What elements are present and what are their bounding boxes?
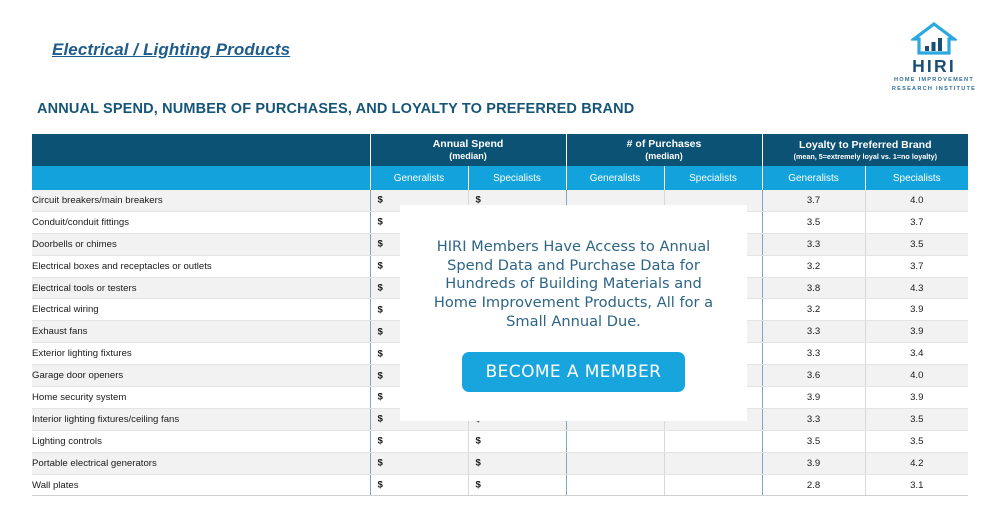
currency-symbol: $	[476, 458, 481, 469]
table-row: Lighting controls$$3.53.5	[32, 430, 968, 452]
cell-purchases-specialists	[664, 430, 762, 452]
currency-symbol: $	[378, 283, 383, 294]
subheader-purchases-specialists: Specialists	[664, 166, 762, 190]
cell-loyalty-specialists: 3.5	[865, 233, 968, 255]
cell-spend-specialists: $	[468, 474, 566, 496]
currency-symbol: $	[378, 304, 383, 315]
table-header-group-row: Annual Spend (median) # of Purchases (me…	[32, 134, 968, 166]
table-row: Wall plates$$2.83.1	[32, 474, 968, 496]
header-group-loyalty-subtitle: (mean, 5=extremely loyal vs. 1=no loyalt…	[763, 152, 969, 161]
currency-symbol: $	[378, 348, 383, 359]
subheader-corner-cell	[32, 166, 370, 190]
cell-loyalty-specialists: 3.7	[865, 211, 968, 233]
cell-loyalty-specialists: 3.4	[865, 343, 968, 365]
currency-symbol: $	[476, 436, 481, 447]
cell-purchases-specialists	[664, 474, 762, 496]
cell-loyalty-specialists: 4.0	[865, 365, 968, 387]
cell-loyalty-generalists: 3.3	[762, 408, 865, 430]
cell-spend-generalists: $	[370, 474, 468, 496]
header-group-loyalty: Loyalty to Preferred Brand (mean, 5=extr…	[762, 134, 968, 166]
cell-spend-specialists: $	[468, 452, 566, 474]
house-with-bar-chart-icon	[882, 22, 986, 56]
cell-spend-generalists: $	[370, 430, 468, 452]
cell-loyalty-generalists: 3.9	[762, 452, 865, 474]
currency-symbol: $	[378, 458, 383, 469]
row-label: Interior lighting fixtures/ceiling fans	[32, 408, 370, 430]
cell-loyalty-generalists: 3.5	[762, 430, 865, 452]
currency-symbol: $	[476, 480, 481, 491]
cell-loyalty-specialists: 4.3	[865, 277, 968, 299]
hiri-logo: HIRI HOME IMPROVEMENT RESEARCH INSTITUTE	[882, 22, 986, 94]
membership-overlay: HIRI Members Have Access to Annual Spend…	[400, 205, 747, 421]
logo-tagline-line2: RESEARCH INSTITUTE	[882, 85, 986, 94]
cell-loyalty-generalists: 3.3	[762, 233, 865, 255]
currency-symbol: $	[378, 370, 383, 381]
cell-loyalty-generalists: 3.2	[762, 255, 865, 277]
membership-overlay-message: HIRI Members Have Access to Annual Spend…	[424, 238, 724, 331]
subheader-spend-generalists: Generalists	[370, 166, 468, 190]
row-label: Exterior lighting fixtures	[32, 343, 370, 365]
row-label: Wall plates	[32, 474, 370, 496]
subheader-loyalty-generalists: Generalists	[762, 166, 865, 190]
header-group-annual-spend-subtitle: (median)	[371, 151, 566, 162]
cell-purchases-generalists	[566, 452, 664, 474]
cell-loyalty-specialists: 3.5	[865, 430, 968, 452]
cell-spend-generalists: $	[370, 452, 468, 474]
cell-loyalty-specialists: 3.5	[865, 408, 968, 430]
row-label: Portable electrical generators	[32, 452, 370, 474]
header-group-purchases-title: # of Purchases	[627, 138, 702, 150]
row-label: Doorbells or chimes	[32, 233, 370, 255]
cell-loyalty-specialists: 4.2	[865, 452, 968, 474]
cell-loyalty-specialists: 3.7	[865, 255, 968, 277]
row-label: Electrical wiring	[32, 299, 370, 321]
cell-loyalty-generalists: 3.6	[762, 365, 865, 387]
cell-loyalty-specialists: 4.0	[865, 190, 968, 211]
table-subheader-row: Generalists Specialists Generalists Spec…	[32, 166, 968, 190]
header-corner-cell	[32, 134, 370, 166]
cell-spend-specialists: $	[468, 430, 566, 452]
cell-loyalty-specialists: 3.9	[865, 387, 968, 409]
header-group-annual-spend-title: Annual Spend	[433, 138, 504, 150]
cell-loyalty-specialists: 3.9	[865, 299, 968, 321]
row-label: Exhaust fans	[32, 321, 370, 343]
cell-loyalty-specialists: 3.9	[865, 321, 968, 343]
cell-loyalty-generalists: 2.8	[762, 474, 865, 496]
subheader-purchases-generalists: Generalists	[566, 166, 664, 190]
row-label: Circuit breakers/main breakers	[32, 190, 370, 211]
row-label: Home security system	[32, 387, 370, 409]
currency-symbol: $	[378, 392, 383, 403]
become-a-member-button[interactable]: BECOME A MEMBER	[462, 352, 686, 392]
logo-tagline-line1: HOME IMPROVEMENT	[882, 76, 986, 85]
currency-symbol: $	[378, 326, 383, 337]
currency-symbol: $	[378, 480, 383, 491]
table-row: Portable electrical generators$$3.94.2	[32, 452, 968, 474]
cell-loyalty-specialists: 3.1	[865, 474, 968, 496]
cell-loyalty-generalists: 3.8	[762, 277, 865, 299]
header-group-loyalty-title: Loyalty to Preferred Brand	[799, 139, 931, 151]
currency-symbol: $	[378, 195, 383, 206]
cell-loyalty-generalists: 3.3	[762, 343, 865, 365]
currency-symbol: $	[378, 239, 383, 250]
cell-purchases-specialists	[664, 452, 762, 474]
section-heading: ANNUAL SPEND, NUMBER OF PURCHASES, AND L…	[37, 101, 634, 117]
cell-purchases-generalists	[566, 474, 664, 496]
cell-loyalty-generalists: 3.3	[762, 321, 865, 343]
cell-loyalty-generalists: 3.2	[762, 299, 865, 321]
row-label: Garage door openers	[32, 365, 370, 387]
cell-loyalty-generalists: 3.9	[762, 387, 865, 409]
row-label: Conduit/conduit fittings	[32, 211, 370, 233]
cell-purchases-generalists	[566, 430, 664, 452]
header-group-annual-spend: Annual Spend (median)	[370, 134, 566, 166]
row-label: Lighting controls	[32, 430, 370, 452]
currency-symbol: $	[378, 261, 383, 272]
logo-wordmark: HIRI	[882, 57, 986, 76]
header-group-purchases-subtitle: (median)	[567, 151, 762, 162]
page-title: Electrical / Lighting Products	[52, 40, 290, 60]
cell-loyalty-generalists: 3.7	[762, 190, 865, 211]
header-group-purchases: # of Purchases (median)	[566, 134, 762, 166]
cell-loyalty-generalists: 3.5	[762, 211, 865, 233]
row-label: Electrical tools or testers	[32, 277, 370, 299]
row-label: Electrical boxes and receptacles or outl…	[32, 255, 370, 277]
subheader-loyalty-specialists: Specialists	[865, 166, 968, 190]
currency-symbol: $	[378, 414, 383, 425]
subheader-spend-specialists: Specialists	[468, 166, 566, 190]
currency-symbol: $	[378, 436, 383, 447]
currency-symbol: $	[378, 217, 383, 228]
